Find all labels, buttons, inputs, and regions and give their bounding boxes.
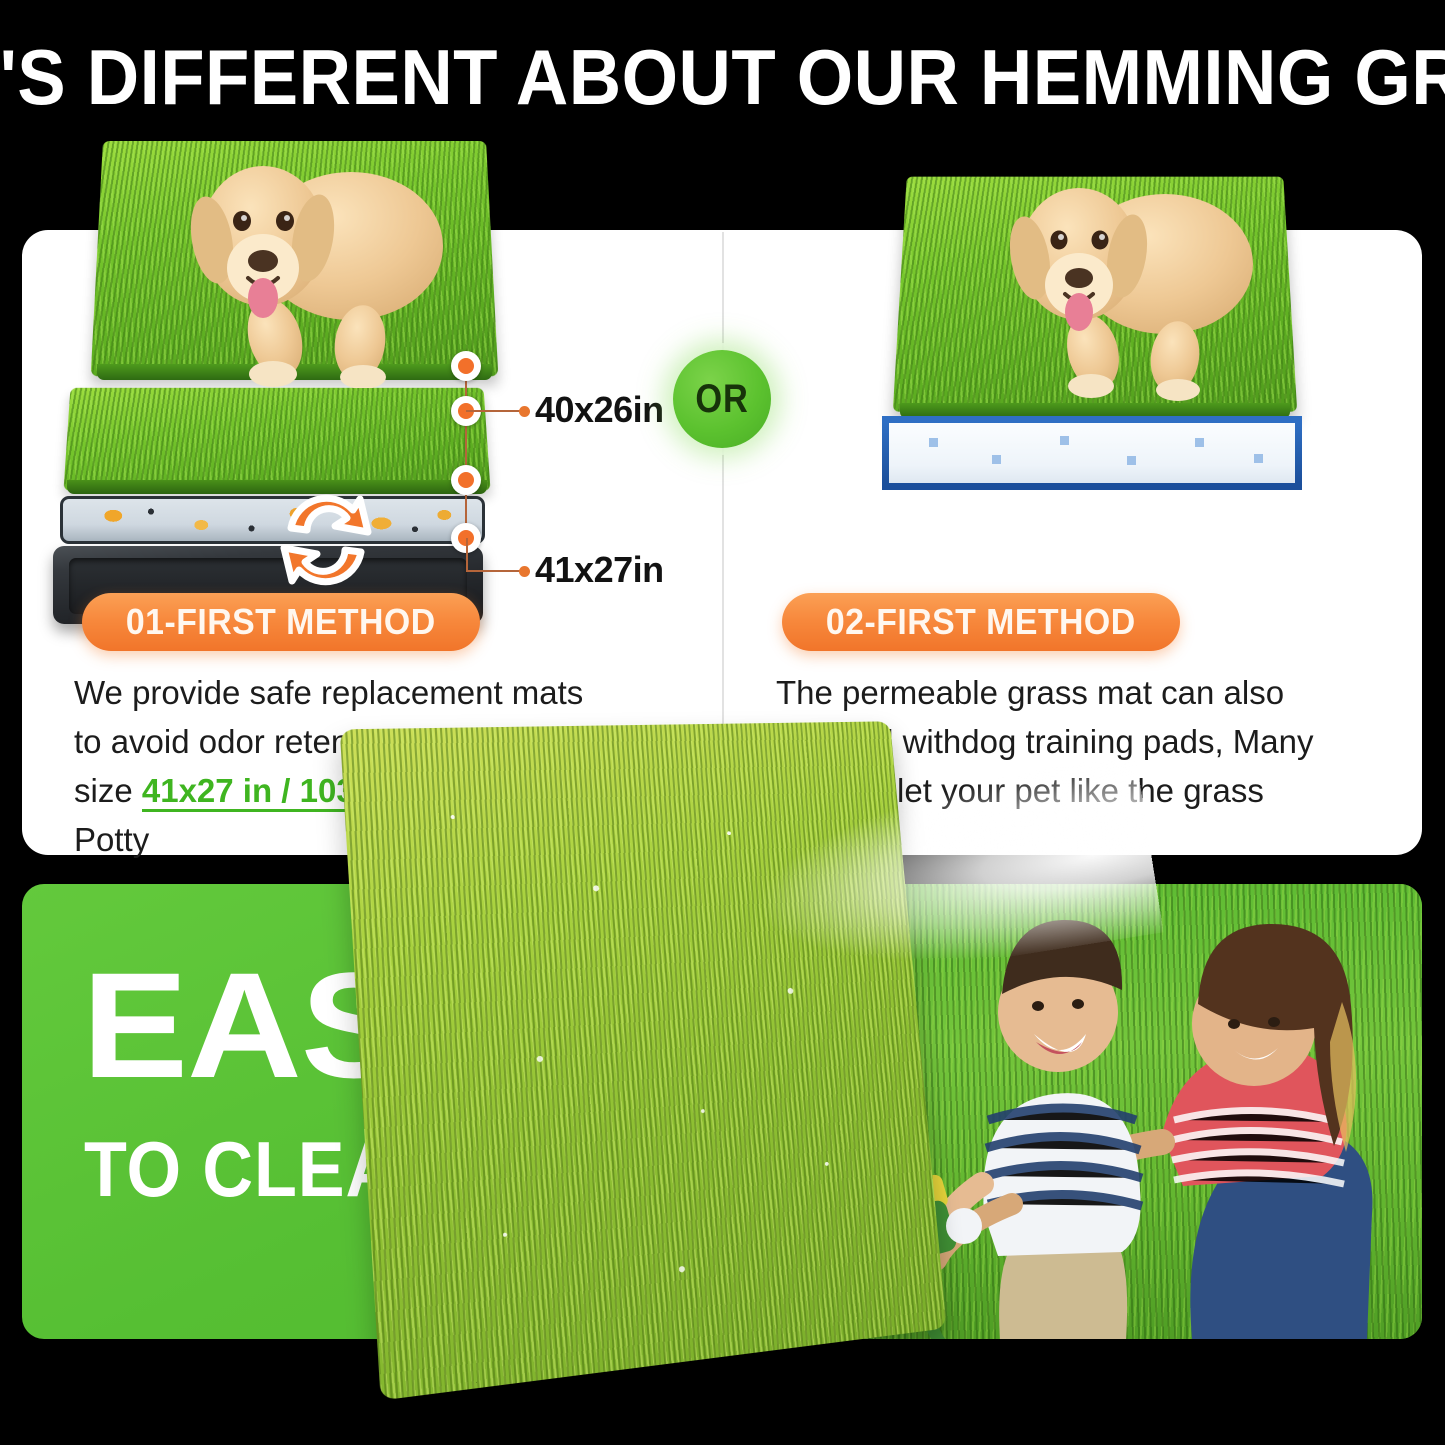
- method-1-product-image: [45, 128, 515, 568]
- or-badge: OR: [673, 350, 771, 448]
- method-1-badge: 01-FIRST METHOD: [82, 593, 480, 651]
- method-2-badge: 02-FIRST METHOD: [782, 593, 1180, 651]
- method-1-badge-label: 01-FIRST METHOD: [126, 601, 436, 643]
- callout-label-41x27: 41x27in: [535, 549, 664, 591]
- page-title: WHAT'S DIFFERENT ABOUT OUR HEMMING GRASS…: [51, 34, 1395, 120]
- callout-dot-1: [451, 351, 481, 381]
- callout-label-40x26: 40x26in: [535, 389, 664, 431]
- dog-training-pad: [882, 416, 1302, 490]
- infographic-root: WHAT'S DIFFERENT ABOUT OUR HEMMING GRASS…: [0, 0, 1445, 1445]
- callout-leader-1: [466, 410, 524, 412]
- method-2-product-image: [860, 160, 1330, 510]
- golden-retriever-dog-left: [155, 128, 455, 388]
- replacement-grass-mat-layer: [63, 388, 490, 491]
- swap-replace-icon: [261, 480, 391, 602]
- or-badge-label: OR: [695, 377, 748, 422]
- callout-leader-2: [466, 570, 524, 572]
- callout-endpoint-1: [519, 406, 530, 417]
- wet-grass-mat-overlay: [348, 699, 956, 1377]
- method-2-badge-label: 02-FIRST METHOD: [826, 601, 1136, 643]
- callout-endpoint-2: [519, 566, 530, 577]
- callout-leader-2-vert: [466, 538, 468, 572]
- golden-retriever-dog-right: [975, 152, 1265, 407]
- callout-dot-3: [451, 465, 481, 495]
